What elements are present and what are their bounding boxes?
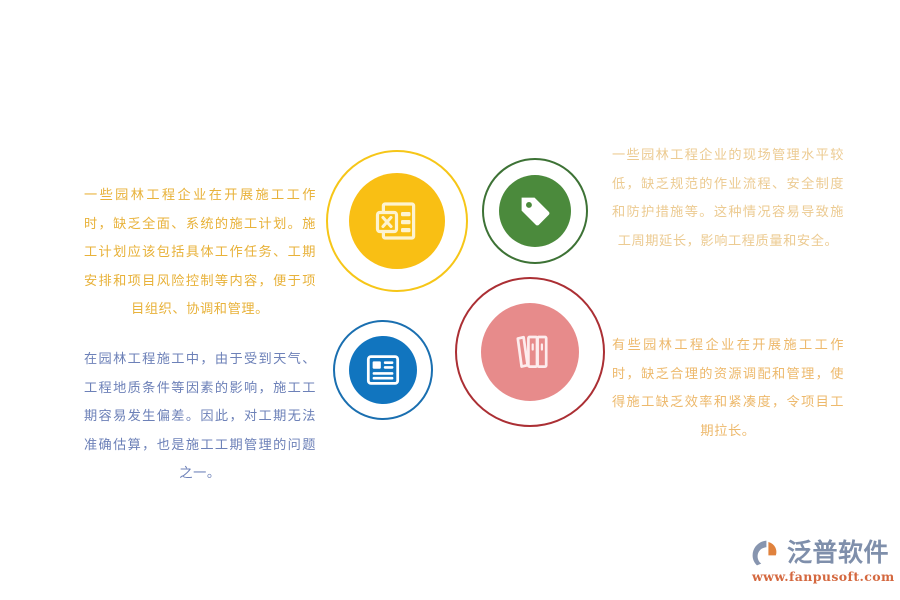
books-icon bbox=[506, 328, 554, 376]
infographic-canvas: 一些园林工程企业在开展施工工作时，缺乏全面、系统的施工计划。施工计划应该包括具体… bbox=[0, 0, 900, 600]
spreadsheet-document-icon bbox=[371, 195, 423, 247]
node-disc-books[interactable] bbox=[481, 303, 579, 401]
logo-row: 泛普软件 bbox=[752, 538, 890, 568]
text-block-resource-allocation: 有些园林工程企业在开展施工工作时，缺乏合理的资源调配和管理，使得施工缺乏效率和紧… bbox=[612, 332, 844, 446]
news-article-icon bbox=[364, 351, 402, 389]
text-block-construction-plan: 一些园林工程企业在开展施工工作时，缺乏全面、系统的施工计划。施工计划应该包括具体… bbox=[84, 182, 316, 325]
node-disc-news[interactable] bbox=[349, 336, 417, 404]
logo-wordmark: 泛普软件 bbox=[787, 538, 889, 568]
text-block-schedule-estimation: 在园林工程施工中，由于受到天气、工程地质条件等因素的影响，施工工期容易发生偏差。… bbox=[84, 346, 316, 489]
node-disc-spreadsheet[interactable] bbox=[349, 173, 445, 269]
tag-icon bbox=[516, 192, 554, 230]
fanpu-logo-mark-icon bbox=[752, 538, 782, 568]
node-disc-tag[interactable] bbox=[499, 175, 571, 247]
brand-logo[interactable]: 泛普软件 www.fanpusoft.com bbox=[752, 538, 890, 590]
text-block-site-management: 一些园林工程企业的现场管理水平较低，缺乏规范的作业流程、安全制度和防护措施等。这… bbox=[612, 142, 844, 256]
logo-website-url: www.fanpusoft.com bbox=[752, 569, 890, 584]
